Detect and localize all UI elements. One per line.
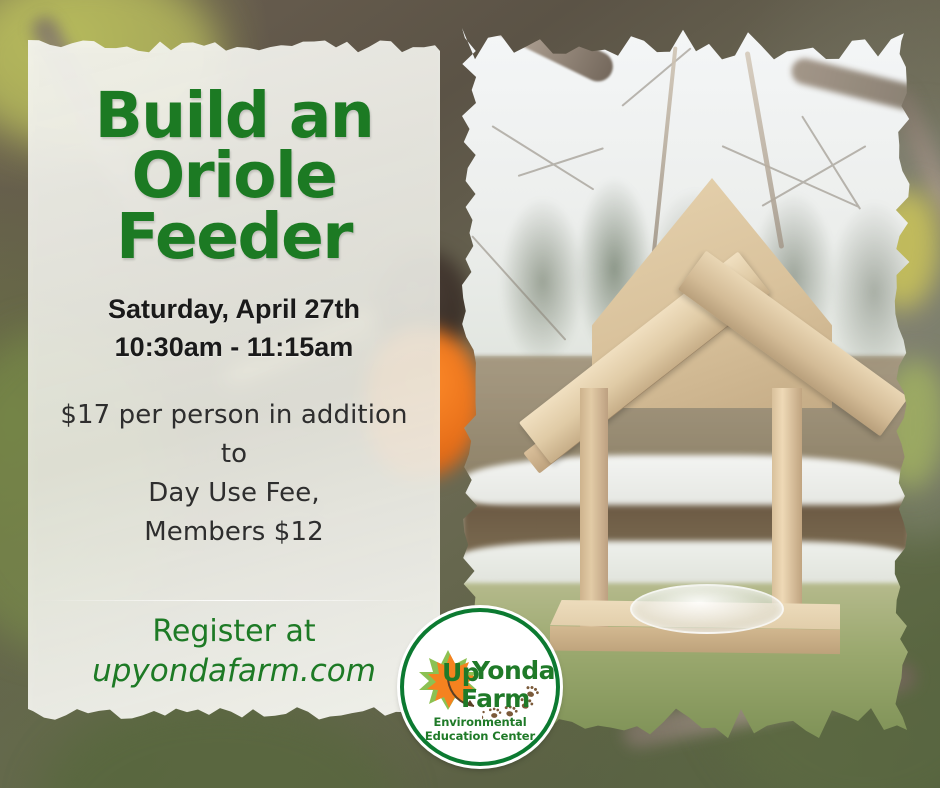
page-title: Build an Oriole Feeder: [48, 40, 420, 267]
up-yonda-farm-logo[interactable]: Up Yonda Farm Environmental Education Ce…: [400, 608, 560, 766]
poster-canvas: Build an Oriole Feeder Saturday, April 2…: [0, 0, 940, 788]
title-line-2: Oriole: [48, 146, 420, 206]
title-line-3: Feeder: [48, 207, 420, 267]
feeder-hanging-wire-right: [745, 51, 785, 249]
feeder-post-right: [772, 388, 802, 628]
event-pricing: $17 per person in addition to Day Use Fe…: [48, 366, 420, 552]
event-datetime: Saturday, April 27th 10:30am - 11:15am: [48, 267, 420, 366]
logo-word-yonda: Yonda: [472, 656, 555, 685]
logo-word-farm: Farm: [461, 684, 530, 713]
register-website-link[interactable]: upyondafarm.com: [28, 651, 440, 691]
event-date: Saturday, April 27th: [48, 291, 420, 328]
event-time: 10:30am - 11:15am: [48, 329, 420, 366]
logo-tagline: Environmental Education Center: [404, 715, 556, 743]
feeder-post-left: [580, 388, 608, 628]
info-card-content: Build an Oriole Feeder Saturday, April 2…: [28, 40, 440, 720]
feeder-glass-dish: [630, 584, 784, 634]
register-label: Register at: [152, 614, 315, 649]
feeder-support-branch: [462, 28, 618, 87]
price-line-3: Members $12: [48, 513, 420, 552]
registration-block: Register at upyondafarm.com: [28, 612, 440, 691]
info-card: Build an Oriole Feeder Saturday, April 2…: [28, 40, 440, 720]
price-line-2: Day Use Fee,: [48, 474, 420, 513]
section-divider: [36, 600, 432, 601]
price-line-1: $17 per person in addition to: [48, 396, 420, 474]
